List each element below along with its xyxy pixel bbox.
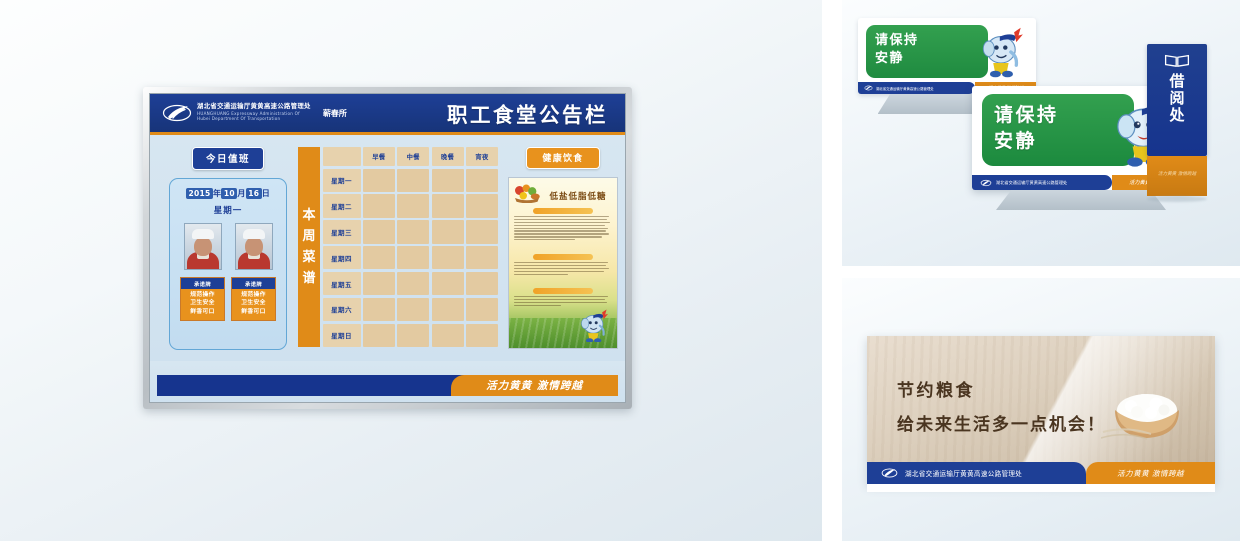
lending-sign-base: 活力黄黄 激情跨越 xyxy=(1147,156,1207,196)
lending-sign-blue-panel: 借 阅 处 xyxy=(1147,44,1207,156)
menu-cell[interactable] xyxy=(432,324,464,347)
menu-row: 星期四 xyxy=(323,246,499,269)
poster-bottom-strip xyxy=(867,484,1215,492)
menu-cell[interactable] xyxy=(466,169,498,192)
menu-row: 星期一 xyxy=(323,169,499,192)
lending-char: 阅 xyxy=(1169,90,1184,107)
menu-sidebar-char: 周 xyxy=(302,230,315,243)
health-poster: 低盐低脂低糖 xyxy=(508,177,618,349)
lending-char: 借 xyxy=(1169,73,1184,90)
rice-poster-line1: 节约粮食 xyxy=(897,376,1106,401)
menu-cell[interactable] xyxy=(466,324,498,347)
expressway-swoosh-logo-icon xyxy=(881,467,898,479)
lending-sign-label: 借 阅 处 xyxy=(1169,73,1184,123)
quiet-sign-back-plate: 请保持 安静 xyxy=(866,25,988,78)
menu-col-lunch: 中餐 xyxy=(397,147,429,166)
date-month: 10 xyxy=(221,188,237,199)
menu-cell[interactable] xyxy=(466,298,498,321)
elephant-mascot-icon xyxy=(980,26,1024,78)
rice-poster-line2: 给未来生活多一点机会！ xyxy=(897,410,1106,435)
menu-row: 星期三 xyxy=(323,220,499,243)
footer-org-name: 湖北省交通运输厅黄黄高速公路管理处 xyxy=(996,180,1067,186)
date-year-unit: 年 xyxy=(213,189,221,198)
menu-cell[interactable] xyxy=(466,220,498,243)
menu-cell[interactable] xyxy=(363,220,395,243)
menu-row-label: 星期六 xyxy=(323,298,361,321)
menu-col-breakfast: 早餐 xyxy=(363,147,395,166)
rice-poster-footer: 湖北省交通运输厅黄黄高速公路管理处 活力黄黄 激情跨越 xyxy=(867,462,1215,484)
footer-slogan-ribbon: 活力黄黄 激情跨越 xyxy=(1086,462,1215,484)
health-subsection xyxy=(514,208,612,240)
quiet-sign-back-body: 请保持 安静 湖北省交通运输厅黄 xyxy=(858,18,1036,94)
quiet-sign-front-plate: 请保持 安静 xyxy=(982,94,1134,166)
subsection-text-lines xyxy=(514,216,612,240)
health-section-title: 健康饮食 xyxy=(526,147,600,169)
menu-cell[interactable] xyxy=(397,194,429,217)
menu-cell[interactable] xyxy=(466,272,498,295)
promise-body: 规范操作 卫生安全 鲜香可口 xyxy=(181,289,224,320)
menu-cell[interactable] xyxy=(397,220,429,243)
footer-org-bar: 湖北省交通运输厅黄黄高速公路管理处 xyxy=(858,82,975,94)
menu-cell[interactable] xyxy=(397,272,429,295)
expressway-swoosh-logo-icon xyxy=(980,179,992,187)
board-header: 湖北省交通运输厅黄黄高速公路管理处 HUANGHUANG Expressway … xyxy=(150,94,625,132)
subsection-text-lines xyxy=(514,262,612,275)
menu-row: 星期五 xyxy=(323,272,499,295)
menu-cell[interactable] xyxy=(432,194,464,217)
duty-weekday: 星期一 xyxy=(177,204,279,216)
menu-row-label: 星期一 xyxy=(323,169,361,192)
chef-photo-row xyxy=(177,223,279,270)
left-scene-panel: 湖北省交通运输厅黄黄高速公路管理处 HUANGHUANG Expressway … xyxy=(0,0,822,541)
menu-cell[interactable] xyxy=(397,324,429,347)
footer-slogan: 活力黄黄 激情跨越 xyxy=(1117,468,1184,479)
menu-row: 星期日 xyxy=(323,324,499,347)
promise-title: 承诺牌 xyxy=(181,278,224,289)
chef-portrait-2 xyxy=(235,223,273,270)
footer-slogan: 活力黄黄 激情跨越 xyxy=(486,378,583,393)
promise-card-row: 承诺牌 规范操作 卫生安全 鲜香可口 承诺牌 规范操作 xyxy=(177,277,279,321)
organization-name-cn: 湖北省交通运输厅黄黄高速公路管理处 xyxy=(197,104,311,111)
date-month-unit: 月 xyxy=(237,189,245,198)
bulletin-board-inner: 湖北省交通运输厅黄黄高速公路管理处 HUANGHUANG Expressway … xyxy=(149,93,626,403)
promise-line: 鲜香可口 xyxy=(181,308,224,317)
duty-card: 2015年10月16日 星期一 xyxy=(169,178,287,350)
health-heading: 低盐低脂低糖 xyxy=(543,190,613,202)
health-subsection xyxy=(514,288,612,306)
menu-cell[interactable] xyxy=(432,272,464,295)
menu-cell[interactable] xyxy=(397,169,429,192)
promise-line: 规范操作 xyxy=(232,291,275,300)
duty-column: 今日值班 2015年10月16日 星期一 xyxy=(169,147,287,350)
menu-cell[interactable] xyxy=(397,246,429,269)
menu-sidebar-char: 本 xyxy=(302,209,315,222)
menu-cell[interactable] xyxy=(363,298,395,321)
promise-title: 承诺牌 xyxy=(232,278,275,289)
menu-row-label: 星期日 xyxy=(323,324,361,347)
health-column: 健康饮食 低盐低脂低糖 xyxy=(508,147,618,349)
expressway-swoosh-logo-icon xyxy=(864,85,873,91)
rice-poster-text: 节约粮食 给未来生活多一点机会！ xyxy=(897,376,1106,435)
menu-cell[interactable] xyxy=(363,169,395,192)
menu-cell[interactable] xyxy=(432,220,464,243)
branch-name: 蕲春所 xyxy=(323,108,347,119)
menu-row-label: 星期三 xyxy=(323,220,361,243)
quiet-sign-front-line2: 安静 xyxy=(994,129,1134,155)
menu-row-label: 星期四 xyxy=(323,246,361,269)
health-subsection xyxy=(514,254,612,275)
right-top-scene-panel: 请保持 安静 湖北省交通运输厅黄 xyxy=(842,0,1240,266)
board-title: 职工食堂公告栏 xyxy=(447,98,608,128)
menu-cell[interactable] xyxy=(432,298,464,321)
board-footer: 活力黄黄 激情跨越 xyxy=(150,361,625,402)
expressway-swoosh-logo-icon xyxy=(162,102,192,124)
chef-face xyxy=(194,237,212,256)
promise-body: 规范操作 卫生安全 鲜香可口 xyxy=(232,289,275,320)
date-year: 2015 xyxy=(186,188,213,199)
subsection-bar xyxy=(533,254,594,260)
vegetable-basket-icon xyxy=(512,181,542,203)
promise-line: 卫生安全 xyxy=(181,299,224,308)
quiet-sign-front-line1: 请保持 xyxy=(994,103,1134,129)
promise-card: 承诺牌 规范操作 卫生安全 鲜香可口 xyxy=(180,277,225,321)
board-body: 今日值班 2015年10月16日 星期一 xyxy=(150,135,625,361)
promise-line: 规范操作 xyxy=(181,291,224,300)
lending-char: 处 xyxy=(1169,107,1184,124)
menu-sidebar-char: 谱 xyxy=(302,272,315,285)
menu-cell[interactable] xyxy=(397,298,429,321)
duty-date: 2015年10月16日 xyxy=(177,188,279,199)
sign-shadow xyxy=(1147,196,1207,202)
chef-face xyxy=(245,237,263,256)
menu-cell[interactable] xyxy=(363,194,395,217)
duty-section-title: 今日值班 xyxy=(192,147,264,170)
menu-corner-cell xyxy=(323,147,361,166)
footer-slogan: 活力黄黄 激情跨越 xyxy=(1158,171,1196,177)
chef-portrait-1 xyxy=(184,223,222,270)
menu-cell[interactable] xyxy=(432,246,464,269)
footer-org-name: 湖北省交通运输厅黄黄高速公路管理处 xyxy=(905,468,1022,478)
footer-org-bar: 湖北省交通运输厅黄黄高速公路管理处 xyxy=(867,462,1086,484)
subsection-bar xyxy=(533,208,594,214)
menu-row-label: 星期二 xyxy=(323,194,361,217)
menu-col-supper: 宵夜 xyxy=(466,147,498,166)
menu-row: 星期六 xyxy=(323,298,499,321)
footer-org-bar: 湖北省交通运输厅黄黄高速公路管理处 xyxy=(972,175,1112,190)
open-book-icon xyxy=(1164,53,1190,68)
promise-line: 卫生安全 xyxy=(232,299,275,308)
bulletin-board-frame: 湖北省交通运输厅黄黄高速公路管理处 HUANGHUANG Expressway … xyxy=(143,87,632,409)
date-day-unit: 日 xyxy=(262,189,270,198)
sign-stand xyxy=(996,190,1166,210)
elephant-mascot-icon xyxy=(579,308,609,342)
lending-desk-sign: 借 阅 处 活力黄黄 激情跨越 xyxy=(1147,44,1207,199)
menu-row-label: 星期五 xyxy=(323,272,361,295)
menu-grid: 早餐 中餐 晚餐 宵夜 星期一 星期 xyxy=(323,147,499,347)
right-bottom-scene-panel: 节约粮食 给未来生活多一点机会！ 湖北省交通运输厅黄黄高速公路管理处 活力黄黄 xyxy=(842,278,1240,541)
menu-cell[interactable] xyxy=(432,169,464,192)
chef-hat xyxy=(192,229,214,239)
footer-slogan-ribbon: 活力黄黄 激情跨越 xyxy=(451,375,618,396)
menu-sidebar-char: 菜 xyxy=(302,251,315,264)
menu-header-row: 早餐 中餐 晚餐 宵夜 xyxy=(323,147,499,166)
subsection-text-lines xyxy=(514,296,612,306)
menu-cell[interactable] xyxy=(363,272,395,295)
menu-cell[interactable] xyxy=(466,246,498,269)
menu-cell[interactable] xyxy=(466,194,498,217)
weekly-menu-table: 本 周 菜 谱 早餐 中餐 晚餐 宵夜 xyxy=(298,147,498,347)
organization-name-en-line2: Hubei Department Of Transportation xyxy=(197,117,311,121)
chef-hat xyxy=(243,229,265,239)
date-day: 16 xyxy=(246,188,262,199)
promise-line: 鲜香可口 xyxy=(232,308,275,317)
quiet-sign-back-line2: 安静 xyxy=(875,50,988,68)
footer-org-name: 湖北省交通运输厅黄黄高速公路管理处 xyxy=(876,86,934,91)
quiet-sign-back-line1: 请保持 xyxy=(875,32,988,50)
menu-row: 星期二 xyxy=(323,194,499,217)
rice-bowl-photo xyxy=(1101,384,1193,446)
menu-cell[interactable] xyxy=(363,324,395,347)
rice-saving-poster: 节约粮食 给未来生活多一点机会！ 湖北省交通运输厅黄黄高速公路管理处 活力黄黄 xyxy=(867,336,1215,484)
menu-sidebar-title: 本 周 菜 谱 xyxy=(298,147,320,347)
promise-card: 承诺牌 规范操作 卫生安全 鲜香可口 xyxy=(231,277,276,321)
organization-block: 湖北省交通运输厅黄黄高速公路管理处 HUANGHUANG Expressway … xyxy=(197,104,311,121)
menu-col-dinner: 晚餐 xyxy=(432,147,464,166)
subsection-bar xyxy=(533,288,594,294)
menu-cell[interactable] xyxy=(363,246,395,269)
